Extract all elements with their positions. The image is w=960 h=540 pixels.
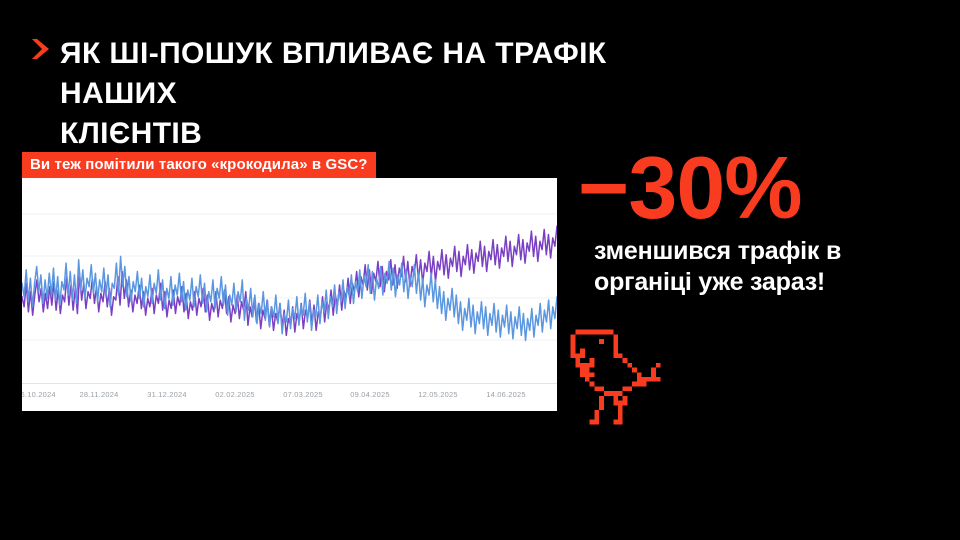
- stat-caption: зменшився трафік в органіці уже зараз!: [594, 236, 934, 298]
- slide-canvas: ЯК ШІ-ПОШУК ВПЛИВАЄ НА ТРАФІК НАШИХ КЛІЄ…: [0, 0, 960, 540]
- headline-line-1-row: ЯК ШІ-ПОШУК ВПЛИВАЄ НА ТРАФІК НАШИХ: [28, 34, 728, 114]
- stat-caption-line-1: зменшився трафік в: [594, 236, 934, 267]
- chevron-right-icon: [28, 34, 52, 64]
- x-axis-tick-label: 09.04.2025: [350, 390, 390, 399]
- stat-value: −30%: [578, 142, 948, 234]
- headline-line-2: КЛІЄНТІВ: [60, 114, 202, 154]
- x-axis-tick-label: 31.12.2024: [147, 390, 187, 399]
- stat-caption-line-2: органіці уже зараз!: [594, 267, 934, 298]
- chart-caption-badge: Ви теж помітили такого «крокодила» в GSC…: [22, 152, 376, 178]
- x-axis-tick-label: 02.02.2025: [215, 390, 255, 399]
- chart-svg: [22, 178, 557, 383]
- dino-svg: [565, 325, 671, 429]
- dino-pixels: [571, 330, 661, 425]
- x-axis-tick-label: 12.05.2025: [418, 390, 458, 399]
- x-axis-tick-label: 26.10.2024: [22, 390, 56, 399]
- gsc-chart-card: 26.10.202428.11.202431.12.202402.02.2025…: [22, 178, 557, 411]
- x-axis-tick-label: 07.03.2025: [283, 390, 323, 399]
- x-axis-tick-label: 14.06.2025: [486, 390, 526, 399]
- headline-block: ЯК ШІ-ПОШУК ВПЛИВАЄ НА ТРАФІК НАШИХ КЛІЄ…: [28, 34, 728, 154]
- headline-line-1: ЯК ШІ-ПОШУК ВПЛИВАЄ НА ТРАФІК НАШИХ: [60, 34, 728, 114]
- chrome-offline-dinosaur-icon: [565, 325, 671, 429]
- x-axis-tick-label: 28.11.2024: [80, 390, 119, 399]
- chart-plot-area: [22, 178, 557, 383]
- chart-x-axis: 26.10.202428.11.202431.12.202402.02.2025…: [22, 383, 557, 411]
